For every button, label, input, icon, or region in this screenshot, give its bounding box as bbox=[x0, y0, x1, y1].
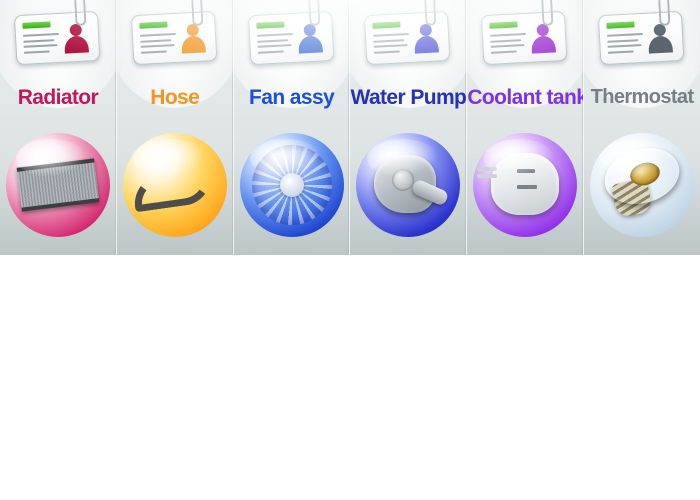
product-panel-fan-assy[interactable]: Fan assy bbox=[234, 0, 351, 255]
panel-title-thermostat: Thermostat bbox=[584, 86, 700, 109]
radiator-icon bbox=[6, 133, 110, 237]
product-panel-hose[interactable]: Hose bbox=[117, 0, 234, 255]
coolant-tank-icon bbox=[473, 133, 577, 237]
badge-person-icon bbox=[413, 23, 441, 54]
id-card-icon bbox=[598, 4, 687, 66]
coolant-tank-marking bbox=[517, 169, 535, 173]
badge-person-icon bbox=[62, 23, 90, 54]
badge-person-icon bbox=[647, 23, 675, 54]
badge-text-lines bbox=[373, 33, 410, 57]
badge-text-lines bbox=[607, 33, 644, 57]
product-panel-thermostat[interactable]: Thermostat bbox=[584, 0, 700, 255]
badge-green-bar bbox=[490, 21, 518, 28]
fan-hub bbox=[280, 173, 304, 197]
product-panel-radiator[interactable]: Radiator bbox=[0, 0, 117, 255]
id-card-icon bbox=[247, 4, 336, 66]
product-banner: Radiator Hose bbox=[0, 0, 700, 255]
coolant-tank-spout bbox=[477, 167, 497, 171]
product-panel-coolant-tank[interactable]: Coolant tank bbox=[467, 0, 584, 255]
badge-green-bar bbox=[139, 21, 167, 28]
coolant-tank-marking bbox=[517, 185, 537, 189]
badge-text-lines bbox=[490, 33, 527, 57]
panel-title-radiator: Radiator bbox=[0, 86, 116, 110]
id-card-icon bbox=[364, 4, 453, 66]
coolant-tank-body bbox=[491, 153, 559, 215]
hose-pipe bbox=[131, 168, 215, 213]
panel-title-hose: Hose bbox=[117, 86, 233, 110]
hose-icon bbox=[123, 133, 227, 237]
badge-green-bar bbox=[22, 21, 50, 28]
badge-card bbox=[14, 11, 101, 65]
panel-title-coolant-tank: Coolant tank bbox=[467, 86, 583, 110]
badge-clip-icon bbox=[191, 0, 203, 26]
badge-clip-icon bbox=[74, 0, 86, 26]
id-card-icon bbox=[13, 4, 102, 66]
why-kvr-section: Why KVR? Higher standard quality. bbox=[0, 255, 700, 500]
panel-title-fan-assy: Fan assy bbox=[234, 86, 350, 110]
badge-text-lines bbox=[23, 33, 60, 57]
product-panel-water-pump[interactable]: Water Pump bbox=[350, 0, 467, 255]
thermostat-icon bbox=[590, 133, 694, 237]
badge-green-bar bbox=[606, 21, 634, 28]
id-card-icon bbox=[481, 4, 570, 66]
badge-green-bar bbox=[373, 21, 401, 28]
water-pump-hub bbox=[392, 169, 414, 191]
id-card-icon bbox=[130, 4, 219, 66]
thermostat-flange bbox=[598, 140, 686, 213]
page-root: Radiator Hose bbox=[0, 0, 700, 500]
badge-clip-icon bbox=[541, 0, 553, 26]
fan-icon bbox=[240, 133, 344, 237]
badge-text-lines bbox=[257, 33, 294, 57]
badge-person-icon bbox=[179, 23, 207, 54]
badge-card bbox=[247, 11, 334, 65]
badge-clip-icon bbox=[308, 0, 320, 26]
badge-clip-icon bbox=[425, 0, 437, 26]
badge-text-lines bbox=[140, 33, 177, 57]
water-pump-icon bbox=[356, 133, 460, 237]
badge-card bbox=[481, 11, 568, 65]
badge-green-bar bbox=[256, 21, 284, 28]
badge-person-icon bbox=[296, 23, 324, 54]
radiator-core bbox=[17, 158, 100, 211]
badge-person-icon bbox=[530, 23, 558, 54]
badge-card bbox=[598, 11, 685, 65]
badge-card bbox=[131, 11, 218, 65]
badge-card bbox=[364, 11, 451, 65]
panel-title-water-pump: Water Pump bbox=[350, 86, 466, 110]
badge-clip-icon bbox=[658, 0, 670, 26]
